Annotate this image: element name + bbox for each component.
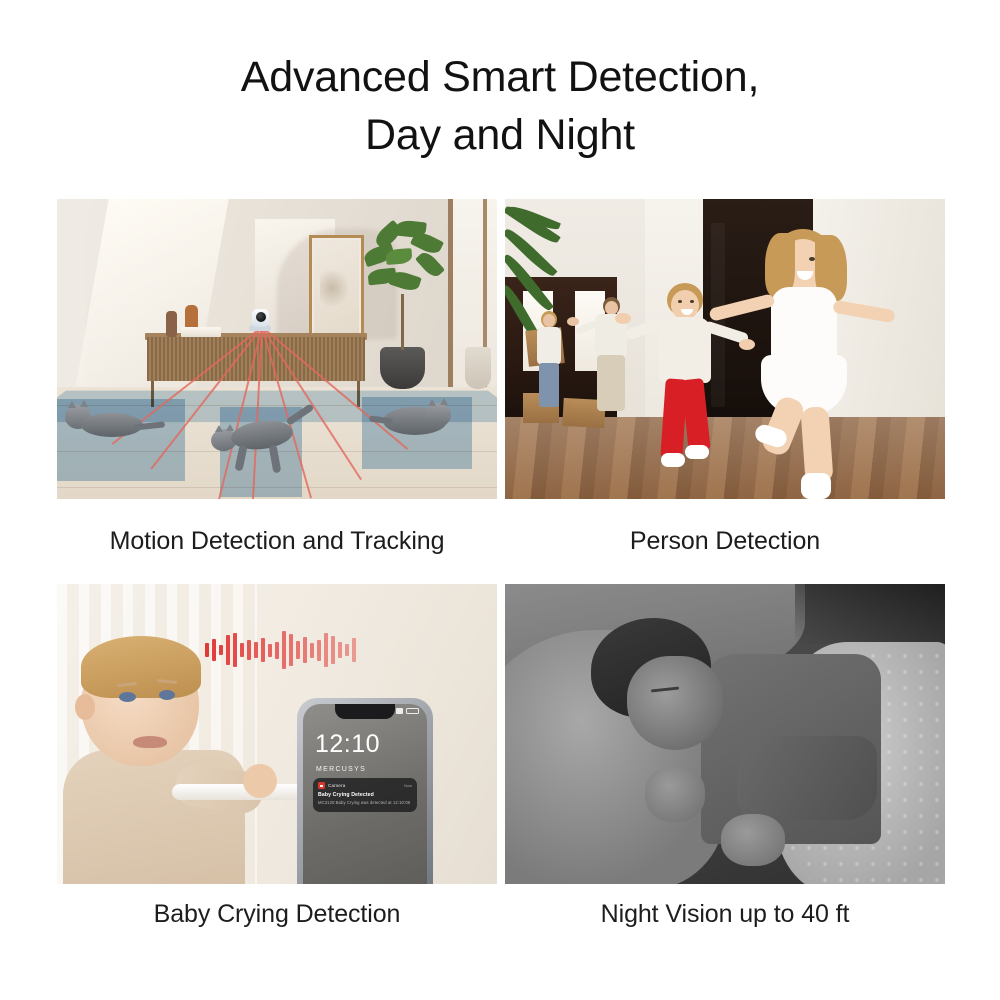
plant-pot [380, 347, 425, 389]
baby-eye-right [159, 690, 175, 700]
waveform-bar [254, 642, 258, 658]
sleeping-child-hand-left [645, 766, 705, 822]
waveform-bar [303, 637, 307, 663]
decor-books [181, 327, 221, 337]
phone-brand-label: MERCUSYS [316, 766, 366, 773]
page-title-line-1: Advanced Smart Detection, [0, 48, 1000, 106]
plant-stem [401, 294, 404, 350]
notification-card[interactable]: Camera Now Baby Crying Detected MC3120:B… [313, 778, 417, 812]
waveform-bar [205, 643, 209, 657]
feature-image-motion-detection [57, 199, 497, 499]
picture-brushstroke [320, 268, 350, 308]
caption-person-detection: Person Detection [505, 499, 945, 584]
wall-picture-frame [309, 235, 364, 339]
waveform-bar [324, 633, 328, 667]
promo-page: Advanced Smart Detection, Day and Night [0, 0, 1000, 1000]
person-mother [533, 311, 565, 411]
security-camera-lens [256, 312, 266, 322]
notification-title: Baby Crying Detected [318, 792, 412, 798]
notification-app-name: Camera [328, 783, 346, 788]
cat-right [369, 401, 455, 439]
sound-waveform [205, 626, 365, 674]
page-title-line-2: Day and Night [0, 106, 1000, 164]
waveform-bar [268, 644, 272, 657]
sleeping-child-face [627, 656, 723, 750]
waveform-bar [233, 633, 237, 667]
waveform-bar [345, 644, 349, 656]
decor-vase-a [166, 311, 177, 337]
page-title: Advanced Smart Detection, Day and Night [0, 48, 1000, 164]
phone-notch [335, 704, 395, 719]
waveform-bar [296, 641, 300, 659]
feature-image-person-detection [505, 199, 945, 499]
notification-body: MC3120:Baby Crying was detected at 12:10… [318, 800, 412, 805]
sleeping-child-hand-right [721, 814, 785, 866]
baby-hand [243, 764, 277, 798]
waveform-bar [219, 645, 223, 655]
baby-ear [75, 694, 95, 720]
waveform-bar [310, 643, 314, 658]
feature-grid: Motion Detection and Tracking Person Det… [57, 199, 945, 945]
baby-mouth-crying [133, 736, 167, 748]
dark-corner-shadow [795, 584, 945, 644]
plant-foliage [362, 221, 444, 301]
caption-baby-crying-detection: Baby Crying Detection [57, 884, 497, 944]
feature-image-baby-crying-detection: 12:10 MERCUSYS Camera Now Baby Crying De… [57, 584, 497, 884]
waveform-bar [212, 639, 216, 661]
signal-icon [396, 708, 403, 714]
cat-center-jumping [207, 415, 323, 473]
baby-eye-left [119, 692, 136, 702]
small-vase [465, 347, 491, 389]
waveform-bar [289, 634, 293, 666]
phone-status-bar [396, 708, 419, 714]
phone-lockscreen-clock: 12:10 [315, 730, 380, 759]
cat-left [65, 403, 165, 443]
waveform-bar [352, 638, 356, 662]
battery-icon [406, 708, 419, 714]
phone-screen: 12:10 MERCUSYS Camera Now Baby Crying De… [303, 704, 427, 884]
feature-image-night-vision [505, 584, 945, 884]
waveform-bar [282, 631, 286, 669]
waveform-bar [338, 642, 342, 658]
person-girl-running [745, 229, 875, 499]
waveform-bar [226, 635, 230, 665]
waveform-bar [240, 643, 244, 657]
waveform-bar [331, 636, 335, 664]
baby-hair [81, 636, 201, 698]
caption-motion-detection: Motion Detection and Tracking [57, 499, 497, 584]
waveform-bar [247, 640, 251, 660]
waveform-bar [261, 638, 265, 662]
smartphone: 12:10 MERCUSYS Camera Now Baby Crying De… [297, 698, 433, 884]
window-frame-inner [448, 199, 453, 414]
notification-timestamp: Now [404, 783, 412, 788]
waveform-bar [275, 642, 279, 659]
camera-app-glyph [320, 785, 323, 787]
notification-header: Camera Now [318, 782, 412, 789]
caption-night-vision: Night Vision up to 40 ft [505, 884, 945, 944]
camera-app-icon [318, 782, 325, 789]
waveform-bar [317, 640, 321, 661]
sleeping-child-sleeve [737, 736, 877, 820]
